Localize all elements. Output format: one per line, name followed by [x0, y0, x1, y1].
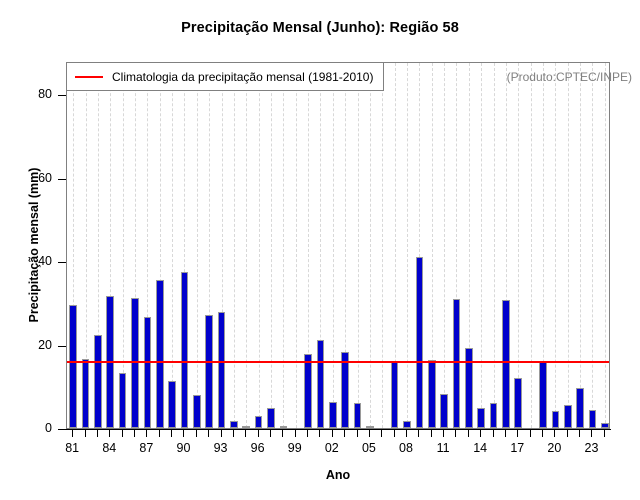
- bar: [341, 352, 349, 428]
- bar: [94, 335, 102, 428]
- gridline: [407, 63, 409, 428]
- x-tick: [72, 430, 73, 437]
- gridline: [259, 63, 261, 428]
- y-tick: [58, 95, 66, 96]
- x-tick-label: 05: [354, 441, 384, 455]
- x-tick: [295, 430, 296, 437]
- x-tick: [357, 430, 358, 437]
- x-tick: [171, 430, 172, 437]
- gridline: [283, 63, 285, 428]
- bar: [601, 423, 609, 428]
- gridline: [531, 63, 533, 428]
- gridline: [172, 63, 174, 428]
- bar: [280, 426, 288, 428]
- x-tick: [604, 430, 605, 437]
- x-tick-label: 20: [539, 441, 569, 455]
- legend-line-swatch-icon: [75, 76, 103, 78]
- bar: [539, 362, 547, 428]
- x-tick: [233, 430, 234, 437]
- gridline: [494, 63, 496, 428]
- bar: [403, 421, 411, 429]
- gridline: [580, 63, 582, 428]
- y-tick: [58, 262, 66, 263]
- x-tick-label: 17: [502, 441, 532, 455]
- bar: [428, 360, 436, 428]
- x-tick-label: 23: [576, 441, 606, 455]
- y-tick: [58, 179, 66, 180]
- product-credit: (Produto:CPTEC/INPE): [507, 70, 632, 84]
- bar: [354, 403, 362, 428]
- bar: [576, 388, 584, 428]
- bar: [267, 408, 275, 428]
- x-tick: [418, 430, 419, 437]
- chart-title: Precipitação Mensal (Junho): Região 58: [0, 20, 640, 36]
- x-tick-label: 87: [131, 441, 161, 455]
- gridline: [481, 63, 483, 428]
- x-tick: [579, 430, 580, 437]
- x-tick: [369, 430, 370, 437]
- x-tick: [554, 430, 555, 437]
- gridline: [444, 63, 446, 428]
- bar: [465, 348, 473, 428]
- gridline: [296, 63, 298, 428]
- x-tick-label: 93: [206, 441, 236, 455]
- gridline: [568, 63, 570, 428]
- x-tick-label: 96: [243, 441, 273, 455]
- legend-entry-label: Climatologia da precipitação mensal (198…: [112, 70, 373, 84]
- y-tick: [58, 346, 66, 347]
- x-tick: [122, 430, 123, 437]
- gridline: [358, 63, 360, 428]
- x-tick: [97, 430, 98, 437]
- x-tick-label: 14: [465, 441, 495, 455]
- bar: [564, 405, 572, 428]
- bar: [119, 373, 127, 428]
- x-tick: [258, 430, 259, 437]
- bar: [193, 395, 201, 428]
- bar: [181, 272, 189, 428]
- x-tick: [146, 430, 147, 437]
- x-tick: [109, 430, 110, 437]
- x-tick: [455, 430, 456, 437]
- gridline: [370, 63, 372, 428]
- gridline: [271, 63, 273, 428]
- bar: [218, 312, 226, 428]
- y-axis-label: Precipitação mensal (mm): [27, 75, 41, 415]
- bar: [205, 315, 213, 428]
- x-tick: [221, 430, 222, 437]
- x-tick: [530, 430, 531, 437]
- x-tick: [567, 430, 568, 437]
- bar: [366, 426, 374, 428]
- gridline: [246, 63, 248, 428]
- y-tick-label: 80: [0, 87, 52, 101]
- x-tick: [431, 430, 432, 437]
- precipitation-chart: Precipitação Mensal (Junho): Região 58 P…: [0, 0, 640, 500]
- legend: Climatologia da precipitação mensal (198…: [66, 62, 384, 91]
- x-tick: [208, 430, 209, 437]
- x-tick: [394, 430, 395, 437]
- x-tick-label: 11: [428, 441, 458, 455]
- x-tick: [591, 430, 592, 437]
- x-tick: [493, 430, 494, 437]
- x-tick-label: 84: [94, 441, 124, 455]
- x-axis-line: [66, 429, 611, 430]
- y-tick: [58, 429, 66, 430]
- bar: [589, 410, 597, 428]
- x-tick: [307, 430, 308, 437]
- y-tick-label: 20: [0, 338, 52, 352]
- x-tick: [406, 430, 407, 437]
- x-tick-label: 02: [317, 441, 347, 455]
- x-tick: [319, 430, 320, 437]
- x-axis-label: Ano: [66, 468, 610, 482]
- y-tick-label: 0: [0, 421, 52, 435]
- x-tick: [183, 430, 184, 437]
- bar: [416, 257, 424, 428]
- gridline: [555, 63, 557, 428]
- gridline: [605, 63, 607, 428]
- bar: [317, 340, 325, 428]
- bar: [230, 421, 238, 428]
- y-tick-label: 40: [0, 254, 52, 268]
- x-tick: [443, 430, 444, 437]
- y-tick-label: 60: [0, 171, 52, 185]
- gridline: [234, 63, 236, 428]
- gridline: [333, 63, 335, 428]
- x-tick-label: 99: [280, 441, 310, 455]
- x-tick: [196, 430, 197, 437]
- bar: [453, 299, 461, 428]
- x-tick-label: 08: [391, 441, 421, 455]
- bar: [514, 378, 522, 428]
- x-tick: [505, 430, 506, 437]
- x-tick-label: 90: [168, 441, 198, 455]
- bar: [304, 354, 312, 428]
- bar: [477, 408, 485, 428]
- x-tick: [517, 430, 518, 437]
- gridline: [197, 63, 199, 428]
- bar: [82, 359, 90, 428]
- x-tick-label: 81: [57, 441, 87, 455]
- plot-area: [66, 62, 610, 429]
- x-tick: [159, 430, 160, 437]
- gridline: [518, 63, 520, 428]
- bar: [391, 362, 399, 428]
- bar: [156, 280, 164, 428]
- bar: [69, 305, 77, 428]
- x-tick: [480, 430, 481, 437]
- x-tick: [468, 430, 469, 437]
- bar: [242, 426, 250, 428]
- gridline: [382, 63, 384, 428]
- x-tick: [344, 430, 345, 437]
- bar: [168, 381, 176, 428]
- bar: [440, 394, 448, 428]
- bar: [502, 300, 510, 428]
- bar: [552, 411, 560, 428]
- bar: [329, 402, 337, 428]
- x-tick: [245, 430, 246, 437]
- bar: [490, 403, 498, 428]
- gridline: [592, 63, 594, 428]
- x-tick: [332, 430, 333, 437]
- x-tick: [282, 430, 283, 437]
- x-tick: [134, 430, 135, 437]
- x-tick: [381, 430, 382, 437]
- bar: [144, 317, 152, 428]
- climatology-line: [67, 361, 609, 363]
- x-tick: [85, 430, 86, 437]
- bar: [255, 416, 263, 429]
- x-tick: [270, 430, 271, 437]
- x-tick: [542, 430, 543, 437]
